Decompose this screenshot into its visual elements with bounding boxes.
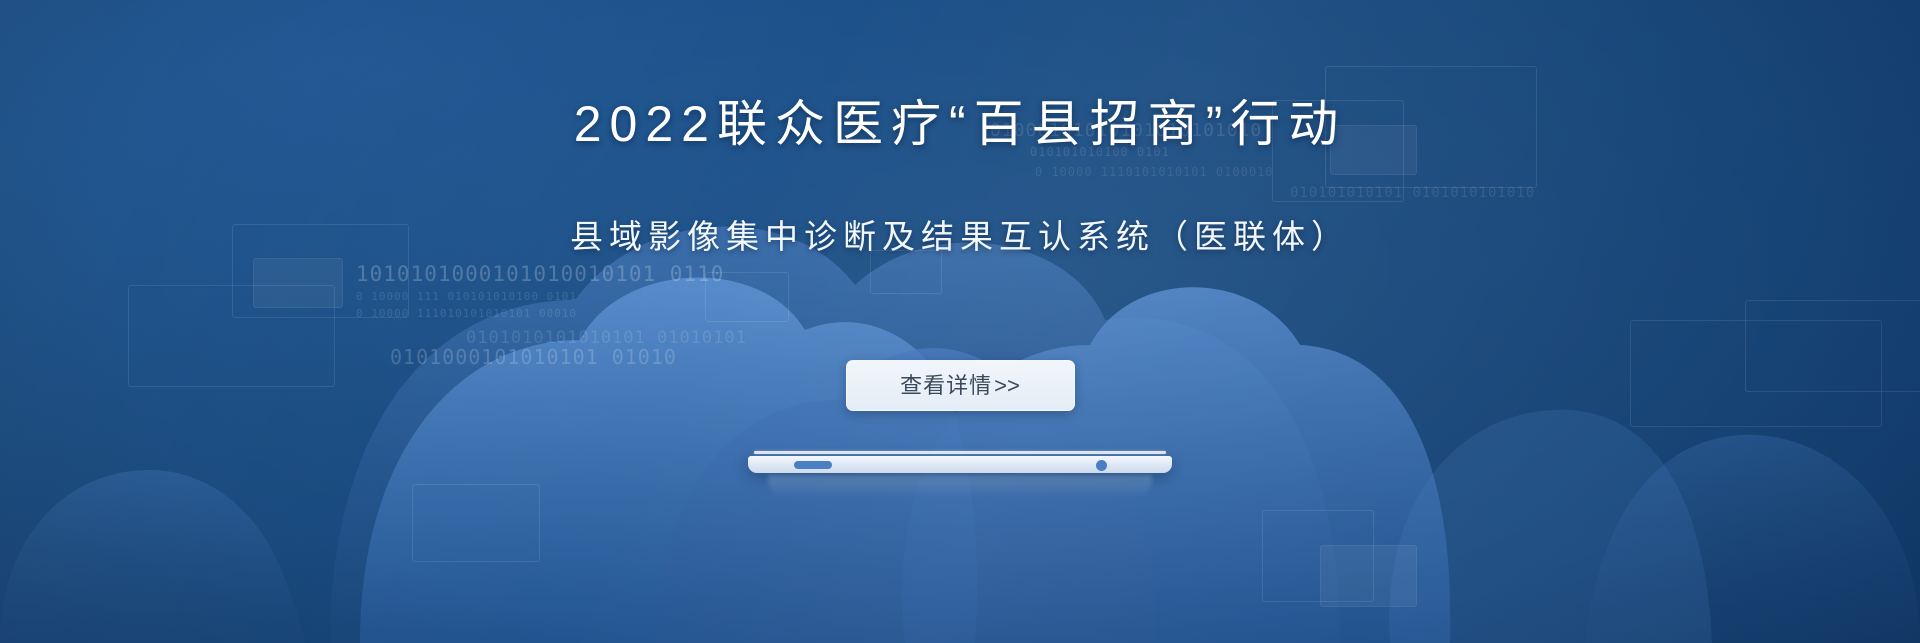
double-chevron-right-icon: >> [994,373,1020,398]
banner-subtitle: 县域影像集中诊断及结果互认系统（医联体） [0,210,1920,258]
banner-title: 2022联众医疗“百县招商”行动 [0,96,1920,154]
promo-banner: 1010101000101010010101 0110 0 10000 111 … [0,0,1920,643]
laptop-indicator-dot [1096,460,1107,471]
view-details-label: 查看详情 [900,373,992,398]
laptop-reflection [768,475,1152,497]
cta-container: 查看详情>> [0,360,1920,411]
laptop-base-illustration [748,451,1172,481]
banner-content: 2022联众医疗“百县招商”行动 县域影像集中诊断及结果互认系统（医联体） 查看… [0,0,1920,643]
laptop-indicator-pill [794,461,832,469]
laptop-screen-edge [754,451,1166,454]
view-details-button[interactable]: 查看详情>> [846,360,1075,411]
